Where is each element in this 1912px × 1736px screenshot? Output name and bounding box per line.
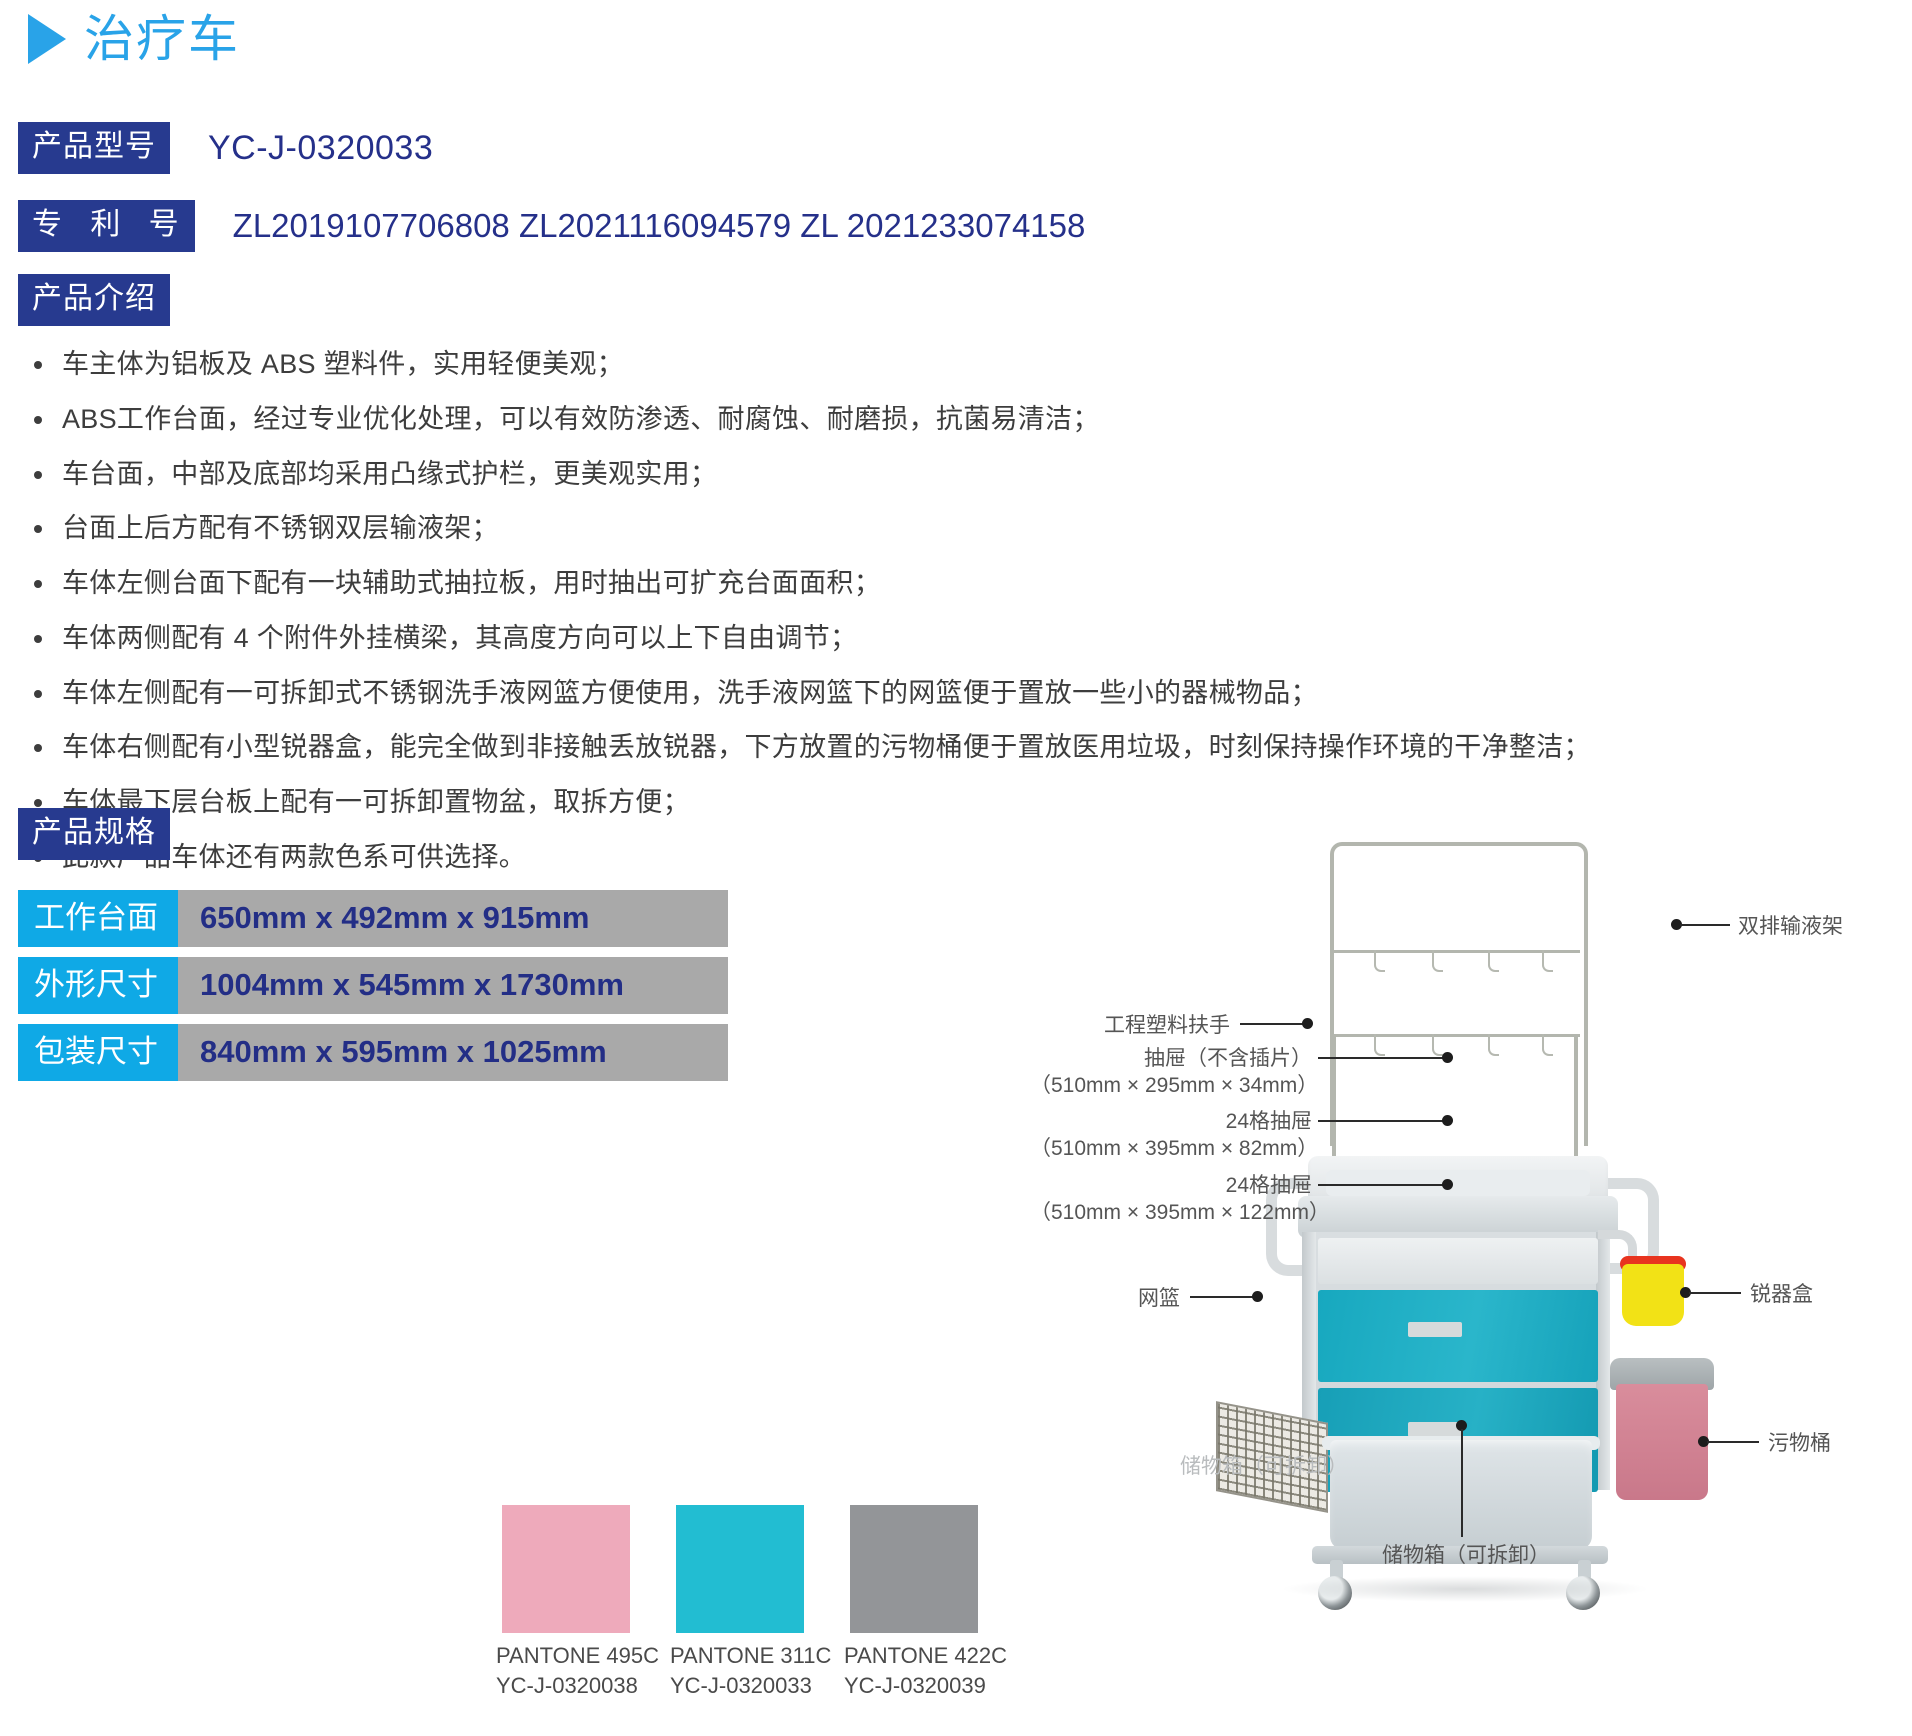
callout-dot-basket bbox=[1252, 1291, 1263, 1302]
page-title: 治疗车 bbox=[28, 14, 240, 64]
callout-leader-drawer-24a bbox=[1318, 1120, 1446, 1122]
iv-hook-icon bbox=[1542, 950, 1553, 972]
callout-handle: 工程塑料扶手 bbox=[1030, 1012, 1230, 1039]
swatch-pantone: PANTONE 311C bbox=[670, 1641, 810, 1671]
swatch-chip-422c bbox=[850, 1505, 978, 1633]
table-row: 包装尺寸 840mm x 595mm x 1025mm bbox=[18, 1024, 728, 1081]
callout-dot-drawer-24a bbox=[1442, 1115, 1453, 1126]
callout-drawer-24a: 24格抽屉 bbox=[1030, 1108, 1312, 1135]
list-item: 车体左侧台面下配有一块辅助式抽拉板，用时抽出可扩充台面面积； bbox=[18, 567, 1678, 601]
product-spec-label: 产品规格 bbox=[18, 808, 170, 860]
iv-hook-icon bbox=[1432, 950, 1443, 972]
spec-value: 650mm x 492mm x 915mm bbox=[178, 890, 728, 947]
iv-hook-icon bbox=[1488, 1034, 1499, 1056]
callout-drawer-24a-dimensions: （510mm × 395mm × 82mm） bbox=[1030, 1135, 1312, 1162]
patent-number-value: ZL2019107706808 ZL2021116094579 ZL 20212… bbox=[233, 207, 1086, 245]
callout-basket: 网篮 bbox=[1030, 1285, 1180, 1312]
iv-hook-row-top bbox=[1330, 950, 1580, 972]
list-item: 车体右侧配有小型锐器盒，能完全做到非接触丢放锐器，下方放置的污物桶便于置放医用垃… bbox=[18, 731, 1678, 765]
callout-leader-drawer-plain bbox=[1318, 1057, 1446, 1059]
iv-hook-row-bottom bbox=[1330, 1034, 1580, 1056]
callout-leader-handle bbox=[1240, 1023, 1304, 1025]
callout-drawer-24b: 24格抽屉 bbox=[1030, 1172, 1312, 1199]
color-swatch: PANTONE 311C YC-J-0320033 bbox=[670, 1505, 810, 1700]
iv-hook-icon bbox=[1374, 1034, 1385, 1056]
list-item: 车主体为铝板及 ABS 塑料件，实用轻便美观； bbox=[18, 348, 1678, 382]
callout-leader-sharps-box bbox=[1689, 1292, 1741, 1294]
drawer-handle-icon bbox=[1408, 1422, 1462, 1437]
product-model-label: 产品型号 bbox=[18, 122, 170, 174]
callout-waste-bin: 污物桶 bbox=[1768, 1430, 1831, 1457]
drawer-handle-icon bbox=[1408, 1322, 1462, 1337]
product-model-row: 产品型号 YC-J-0320033 bbox=[18, 122, 433, 174]
swatch-chip-495c bbox=[502, 1505, 630, 1633]
callout-sharps-box: 锐器盒 bbox=[1750, 1281, 1813, 1308]
worktop-tray-inner bbox=[1326, 1170, 1590, 1196]
iv-pole-frame bbox=[1330, 842, 1588, 1146]
callout-drawer-plain-dimensions: （510mm × 295mm × 34mm） bbox=[1030, 1072, 1312, 1099]
callout-leader-basket bbox=[1190, 1296, 1254, 1298]
play-triangle-icon bbox=[28, 14, 66, 64]
iv-hook-icon bbox=[1432, 1034, 1443, 1056]
callout-leader-waste-bin bbox=[1707, 1441, 1759, 1443]
spec-key: 外形尺寸 bbox=[18, 957, 178, 1014]
spec-key: 工作台面 bbox=[18, 890, 178, 947]
spec-value: 1004mm x 545mm x 1730mm bbox=[178, 957, 728, 1014]
patent-number-label: 专 利 号 bbox=[18, 200, 195, 252]
product-model-value: YC-J-0320033 bbox=[208, 129, 433, 168]
callout-storage-box: 储物箱（可拆卸） bbox=[1382, 1542, 1550, 1569]
color-swatch: PANTONE 422C YC-J-0320039 bbox=[844, 1505, 984, 1700]
drawer-plain bbox=[1318, 1238, 1598, 1284]
waste-bin bbox=[1616, 1384, 1708, 1500]
iv-pole-leg-right bbox=[1574, 1034, 1578, 1164]
list-item: 车体左侧配有一可拆卸式不锈钢洗手液网篮方便使用，洗手液网篮下的网篮便于置放一些小… bbox=[18, 677, 1678, 711]
spec-key: 包装尺寸 bbox=[18, 1024, 178, 1081]
swatch-pantone: PANTONE 422C bbox=[844, 1641, 984, 1671]
list-item: 车台面，中部及底部均采用凸缘式护栏，更美观实用； bbox=[18, 458, 1678, 492]
swatch-model: YC-J-0320038 bbox=[496, 1671, 636, 1701]
spec-value: 840mm x 595mm x 1025mm bbox=[178, 1024, 728, 1081]
swatch-model: YC-J-0320039 bbox=[844, 1671, 984, 1701]
swatch-pantone: PANTONE 495C bbox=[496, 1641, 636, 1671]
product-intro-heading: 产品介绍 bbox=[18, 274, 170, 326]
table-row: 外形尺寸 1004mm x 545mm x 1730mm bbox=[18, 957, 728, 1014]
product-photo: 双排输液架 工程塑料扶手 抽屉（不含插片） （510mm × 295mm × 3… bbox=[1030, 860, 1912, 1736]
iv-hook-icon bbox=[1374, 950, 1385, 972]
callout-leader-drawer-24b bbox=[1318, 1184, 1446, 1186]
spec-table: 工作台面 650mm x 492mm x 915mm 外形尺寸 1004mm x… bbox=[18, 890, 728, 1091]
table-row: 工作台面 650mm x 492mm x 915mm bbox=[18, 890, 728, 947]
swatch-model: YC-J-0320033 bbox=[670, 1671, 810, 1701]
patent-number-row: 专 利 号 ZL2019107706808 ZL2021116094579 ZL… bbox=[18, 200, 1085, 252]
page-title-label: 治疗车 bbox=[84, 14, 240, 64]
floor-shadow bbox=[1280, 1576, 1650, 1602]
callout-dot-drawer-24b bbox=[1442, 1179, 1453, 1190]
callout-leader-storage-box bbox=[1461, 1429, 1463, 1537]
feature-list: 车主体为铝板及 ABS 塑料件，实用轻便美观； ABS工作台面，经过专业优化处理… bbox=[18, 348, 1678, 896]
product-spec-heading: 产品规格 bbox=[18, 808, 170, 860]
list-item: 车体两侧配有 4 个附件外挂横梁，其高度方向可以上下自由调节； bbox=[18, 622, 1678, 656]
list-item: 台面上后方配有不锈钢双层输液架； bbox=[18, 512, 1678, 546]
swatch-chip-311c bbox=[676, 1505, 804, 1633]
color-swatch-group: PANTONE 495C YC-J-0320038 PANTONE 311C Y… bbox=[496, 1505, 984, 1700]
callout-iv-pole: 双排输液架 bbox=[1738, 913, 1843, 940]
callout-leader-iv-pole bbox=[1680, 924, 1730, 926]
iv-hook-icon bbox=[1488, 950, 1499, 972]
callout-drawer-plain: 抽屉（不含插片） bbox=[1030, 1045, 1312, 1072]
callout-drawer-24b-dimensions: （510mm × 395mm × 122mm） bbox=[1030, 1199, 1312, 1226]
callout-dot-drawer-plain bbox=[1442, 1052, 1453, 1063]
list-item: ABS工作台面，经过专业优化处理，可以有效防渗透、耐腐蚀、耐磨损，抗菌易清洁； bbox=[18, 403, 1678, 437]
product-intro-label: 产品介绍 bbox=[18, 274, 170, 326]
iv-hook-icon bbox=[1542, 1034, 1553, 1056]
iv-pole-leg-left bbox=[1332, 1034, 1336, 1164]
sharps-box bbox=[1622, 1264, 1684, 1326]
callout-dot-handle bbox=[1302, 1018, 1313, 1029]
color-swatch: PANTONE 495C YC-J-0320038 bbox=[496, 1505, 636, 1700]
callout-storage-box-ghost: 储物箱（可拆卸） bbox=[1180, 1453, 1348, 1480]
list-item: 车体最下层台板上配有一可拆卸置物盆，取拆方便； bbox=[18, 786, 1678, 820]
